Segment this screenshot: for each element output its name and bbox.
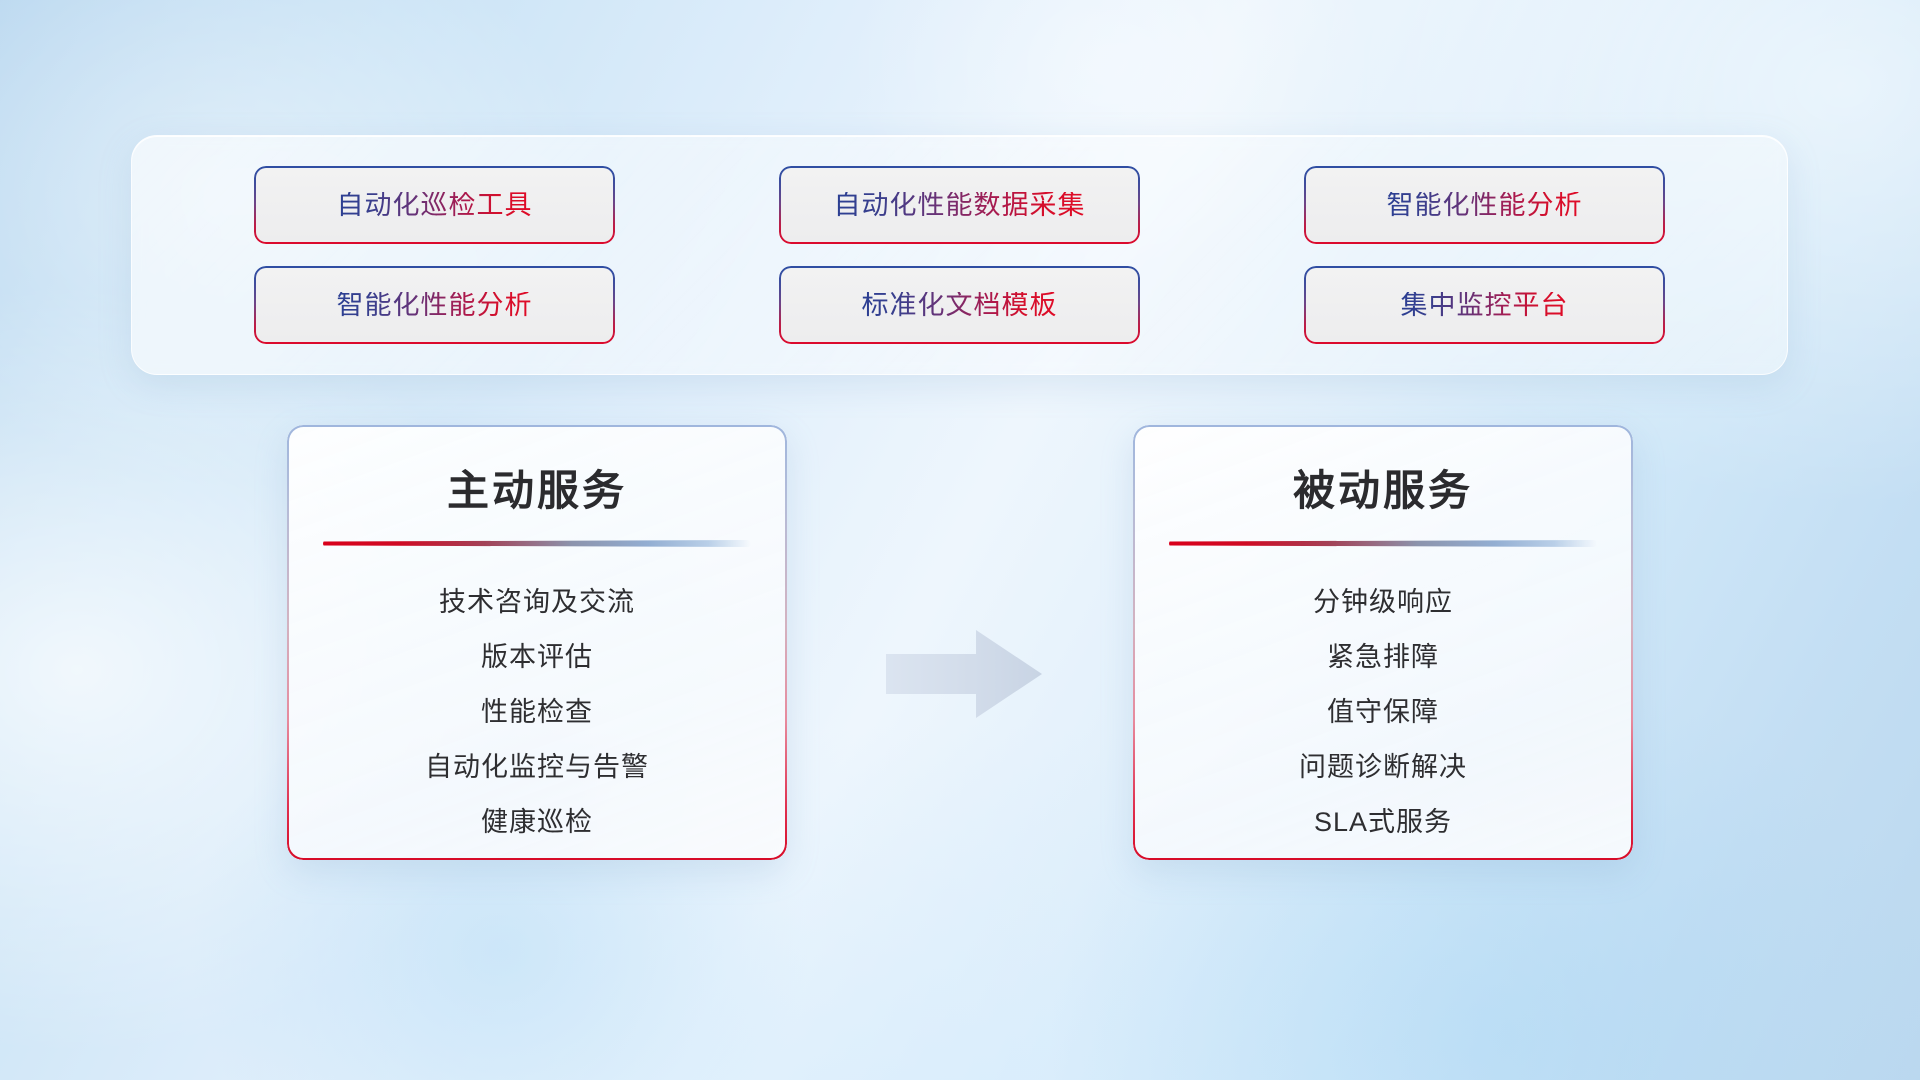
list-item: 版本评估 [287, 630, 787, 685]
list-item: 健康巡检 [287, 795, 787, 850]
list-item: 技术咨询及交流 [287, 575, 787, 630]
list-item: 分钟级响应 [1133, 575, 1633, 630]
capability-pill-label: 自动化巡检工具 [337, 192, 533, 219]
list-item: 性能检查 [287, 685, 787, 740]
capability-pill-label: 标准化文档模板 [862, 292, 1058, 319]
card-item-list: 技术咨询及交流 版本评估 性能检查 自动化监控与告警 健康巡检 [287, 575, 787, 850]
capability-pill-3[interactable]: 智能化性能分析 [1306, 168, 1663, 242]
capability-pill-label: 自动化性能数据采集 [834, 192, 1086, 219]
slide-canvas: 自动化巡检工具 自动化性能数据采集 智能化性能分析 智能化性能分析 标准化文档模… [0, 0, 1920, 1080]
capability-pill-5[interactable]: 标准化文档模板 [781, 268, 1138, 342]
capability-pill-6[interactable]: 集中监控平台 [1306, 268, 1663, 342]
capability-pill-1[interactable]: 自动化巡检工具 [256, 168, 613, 242]
card-item-list: 分钟级响应 紧急排障 值守保障 问题诊断解决 SLA式服务 [1133, 575, 1633, 850]
capability-pill-label: 智能化性能分析 [1387, 192, 1583, 219]
list-item: SLA式服务 [1133, 795, 1633, 850]
list-item: 问题诊断解决 [1133, 740, 1633, 795]
right-arrow-icon [884, 628, 1044, 720]
list-item: 紧急排障 [1133, 630, 1633, 685]
card-divider [323, 540, 751, 547]
capability-pill-4[interactable]: 智能化性能分析 [256, 268, 613, 342]
capability-pill-label: 集中监控平台 [1401, 292, 1569, 319]
capability-pill-2[interactable]: 自动化性能数据采集 [781, 168, 1138, 242]
list-item: 值守保障 [1133, 685, 1633, 740]
capability-panel: 自动化巡检工具 自动化性能数据采集 智能化性能分析 智能化性能分析 标准化文档模… [131, 135, 1788, 375]
list-item: 自动化监控与告警 [287, 740, 787, 795]
card-divider [1169, 540, 1597, 547]
service-card-passive: 被动服务 分钟级响应 紧急排障 值守保障 问题诊断解决 SLA式服务 [1133, 425, 1633, 860]
service-card-active: 主动服务 技术咨询及交流 版本评估 性能检查 自动化监控与告警 健康巡检 [287, 425, 787, 860]
capability-pill-label: 智能化性能分析 [337, 292, 533, 319]
card-title: 主动服务 [287, 457, 787, 518]
card-title: 被动服务 [1133, 457, 1633, 518]
